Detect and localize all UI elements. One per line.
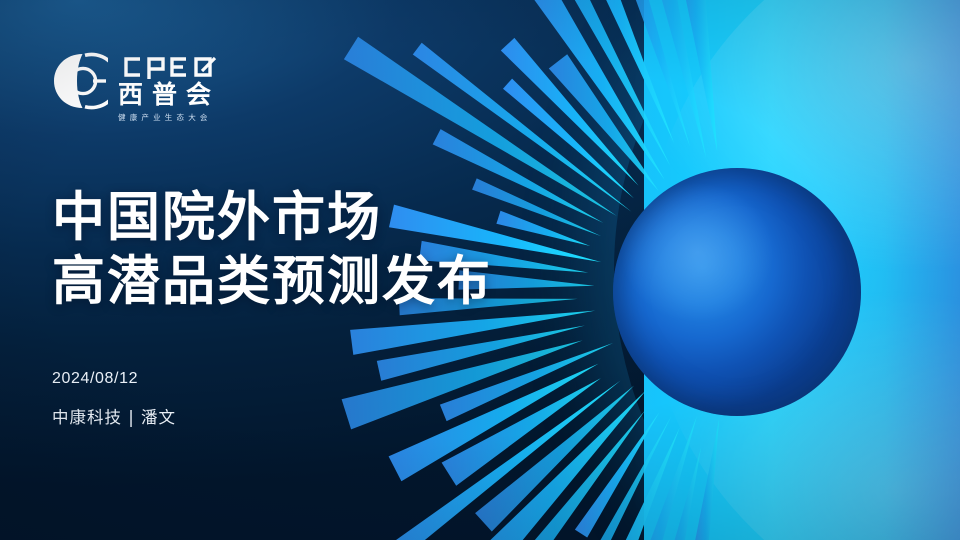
slide-vignette [0, 0, 960, 540]
presentation-slide: 西普会 健康产业生态大会 中国院外市场 高潜品类预测发布 2024/08/12 … [0, 0, 960, 540]
